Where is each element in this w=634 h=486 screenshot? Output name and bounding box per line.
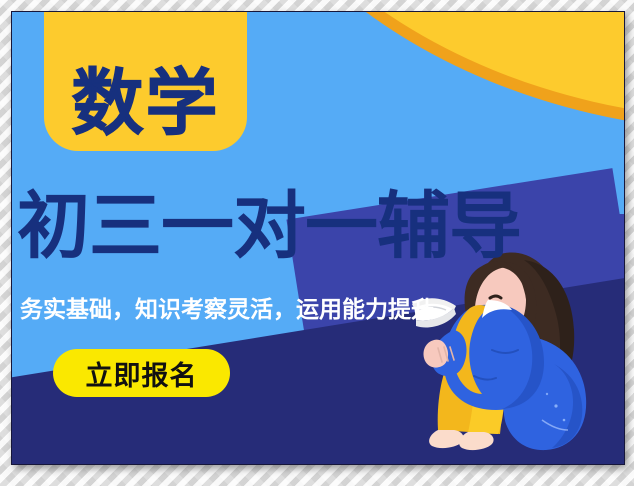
- subtitle: 务实基础，知识考察灵活，运用能力提升: [20, 297, 434, 325]
- promo-banner: 数学 初三一对一辅导 务实基础，知识考察灵活，运用能力提升 立即报名: [12, 12, 624, 464]
- headline: 初三一对一辅导: [17, 190, 621, 263]
- signup-now-button[interactable]: 立即报名: [53, 349, 230, 397]
- girl-reading-book-icon: [404, 244, 624, 464]
- page-backdrop: 数学 初三一对一辅导 务实基础，知识考察灵活，运用能力提升 立即报名: [0, 0, 634, 486]
- subject-badge: 数学: [44, 12, 247, 151]
- signup-now-button-label: 立即报名: [86, 354, 198, 393]
- subject-badge-label: 数学: [71, 69, 219, 137]
- promo-banner-frame: 数学 初三一对一辅导 务实基础，知识考察灵活，运用能力提升 立即报名: [11, 11, 625, 465]
